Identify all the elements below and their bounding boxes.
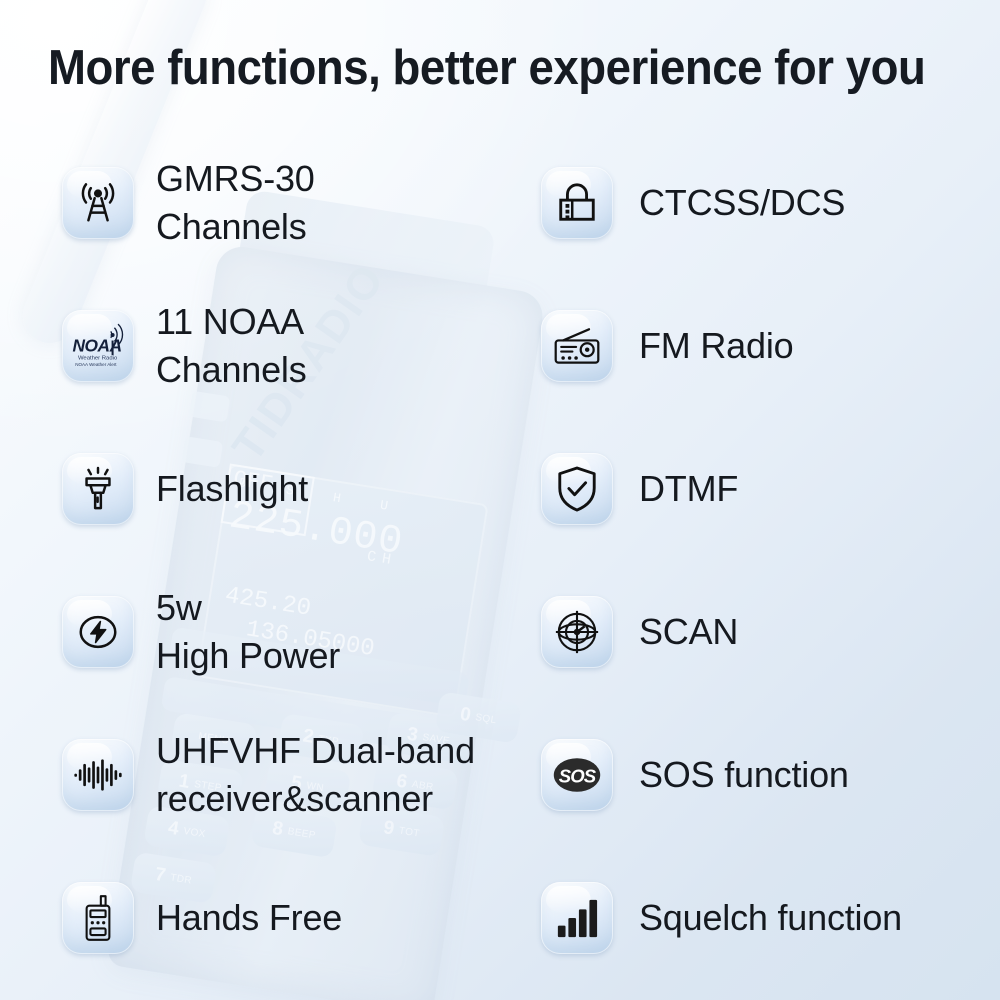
shield-check-icon bbox=[541, 453, 613, 525]
feature-item-flashlight: Flashlight bbox=[62, 417, 532, 560]
feature-label: CTCSS/DCS bbox=[639, 179, 845, 227]
svg-text:NOAA: NOAA bbox=[72, 335, 121, 355]
feature-label: SOS function bbox=[639, 751, 849, 799]
fm-radio-icon bbox=[541, 310, 613, 382]
page-title: More functions, better experience for yo… bbox=[48, 40, 925, 96]
feature-item-scan: SCAN bbox=[541, 560, 981, 703]
feature-item-ctcss-dcs: CTCSS/DCS bbox=[541, 131, 981, 274]
padlock-icon bbox=[541, 167, 613, 239]
feature-label: GMRS-30 Channels bbox=[156, 155, 315, 251]
feature-label: DTMF bbox=[639, 465, 738, 513]
feature-item-fm-radio: FM Radio bbox=[541, 274, 981, 417]
feature-label: Flashlight bbox=[156, 465, 308, 513]
sos-badge-icon: SOS bbox=[541, 739, 613, 811]
feature-label: Squelch function bbox=[639, 894, 902, 942]
noaa-weather-radio-icon: NOAA Weather Radio NOAA Weather Alert bbox=[62, 310, 134, 382]
svg-text:SOS: SOS bbox=[559, 765, 597, 786]
feature-label: FM Radio bbox=[639, 322, 793, 370]
feature-item-gmrs: GMRS-30 Channels bbox=[62, 131, 532, 274]
feature-label: 11 NOAA Channels bbox=[156, 298, 307, 394]
crosshair-radar-icon bbox=[541, 596, 613, 668]
feature-label: Hands Free bbox=[156, 894, 342, 942]
svg-text:NOAA Weather Alert: NOAA Weather Alert bbox=[75, 362, 117, 367]
feature-item-hands-free: Hands Free bbox=[62, 846, 532, 989]
svg-text:Weather Radio: Weather Radio bbox=[78, 355, 118, 361]
feature-item-squelch: Squelch function bbox=[541, 846, 981, 989]
feature-label: SCAN bbox=[639, 608, 738, 656]
flashlight-icon bbox=[62, 453, 134, 525]
feature-item-sos: SOS SOS function bbox=[541, 703, 981, 846]
audio-waveform-icon bbox=[62, 739, 134, 811]
feature-column-right: CTCSS/DCS FM Radio bbox=[541, 131, 981, 989]
feature-item-dualband: UHFVHF Dual-band receiver&scanner bbox=[62, 703, 532, 846]
feature-label: UHFVHF Dual-band receiver&scanner bbox=[156, 727, 475, 823]
infographic-page: TIDRADIO TD-H8 D S H U 225.000 CH OFF 42… bbox=[0, 0, 1000, 1000]
feature-item-dtmf: DTMF bbox=[541, 417, 981, 560]
feature-item-noaa: NOAA Weather Radio NOAA Weather Alert 11… bbox=[62, 274, 532, 417]
feature-label: 5w High Power bbox=[156, 584, 340, 680]
antenna-tower-icon bbox=[62, 167, 134, 239]
feature-item-high-power: 5w High Power bbox=[62, 560, 532, 703]
feature-column-left: GMRS-30 Channels NOAA Weather Radio NOAA… bbox=[62, 131, 532, 989]
walkie-talkie-icon bbox=[62, 882, 134, 954]
power-bolt-icon bbox=[62, 596, 134, 668]
signal-bars-icon bbox=[541, 882, 613, 954]
